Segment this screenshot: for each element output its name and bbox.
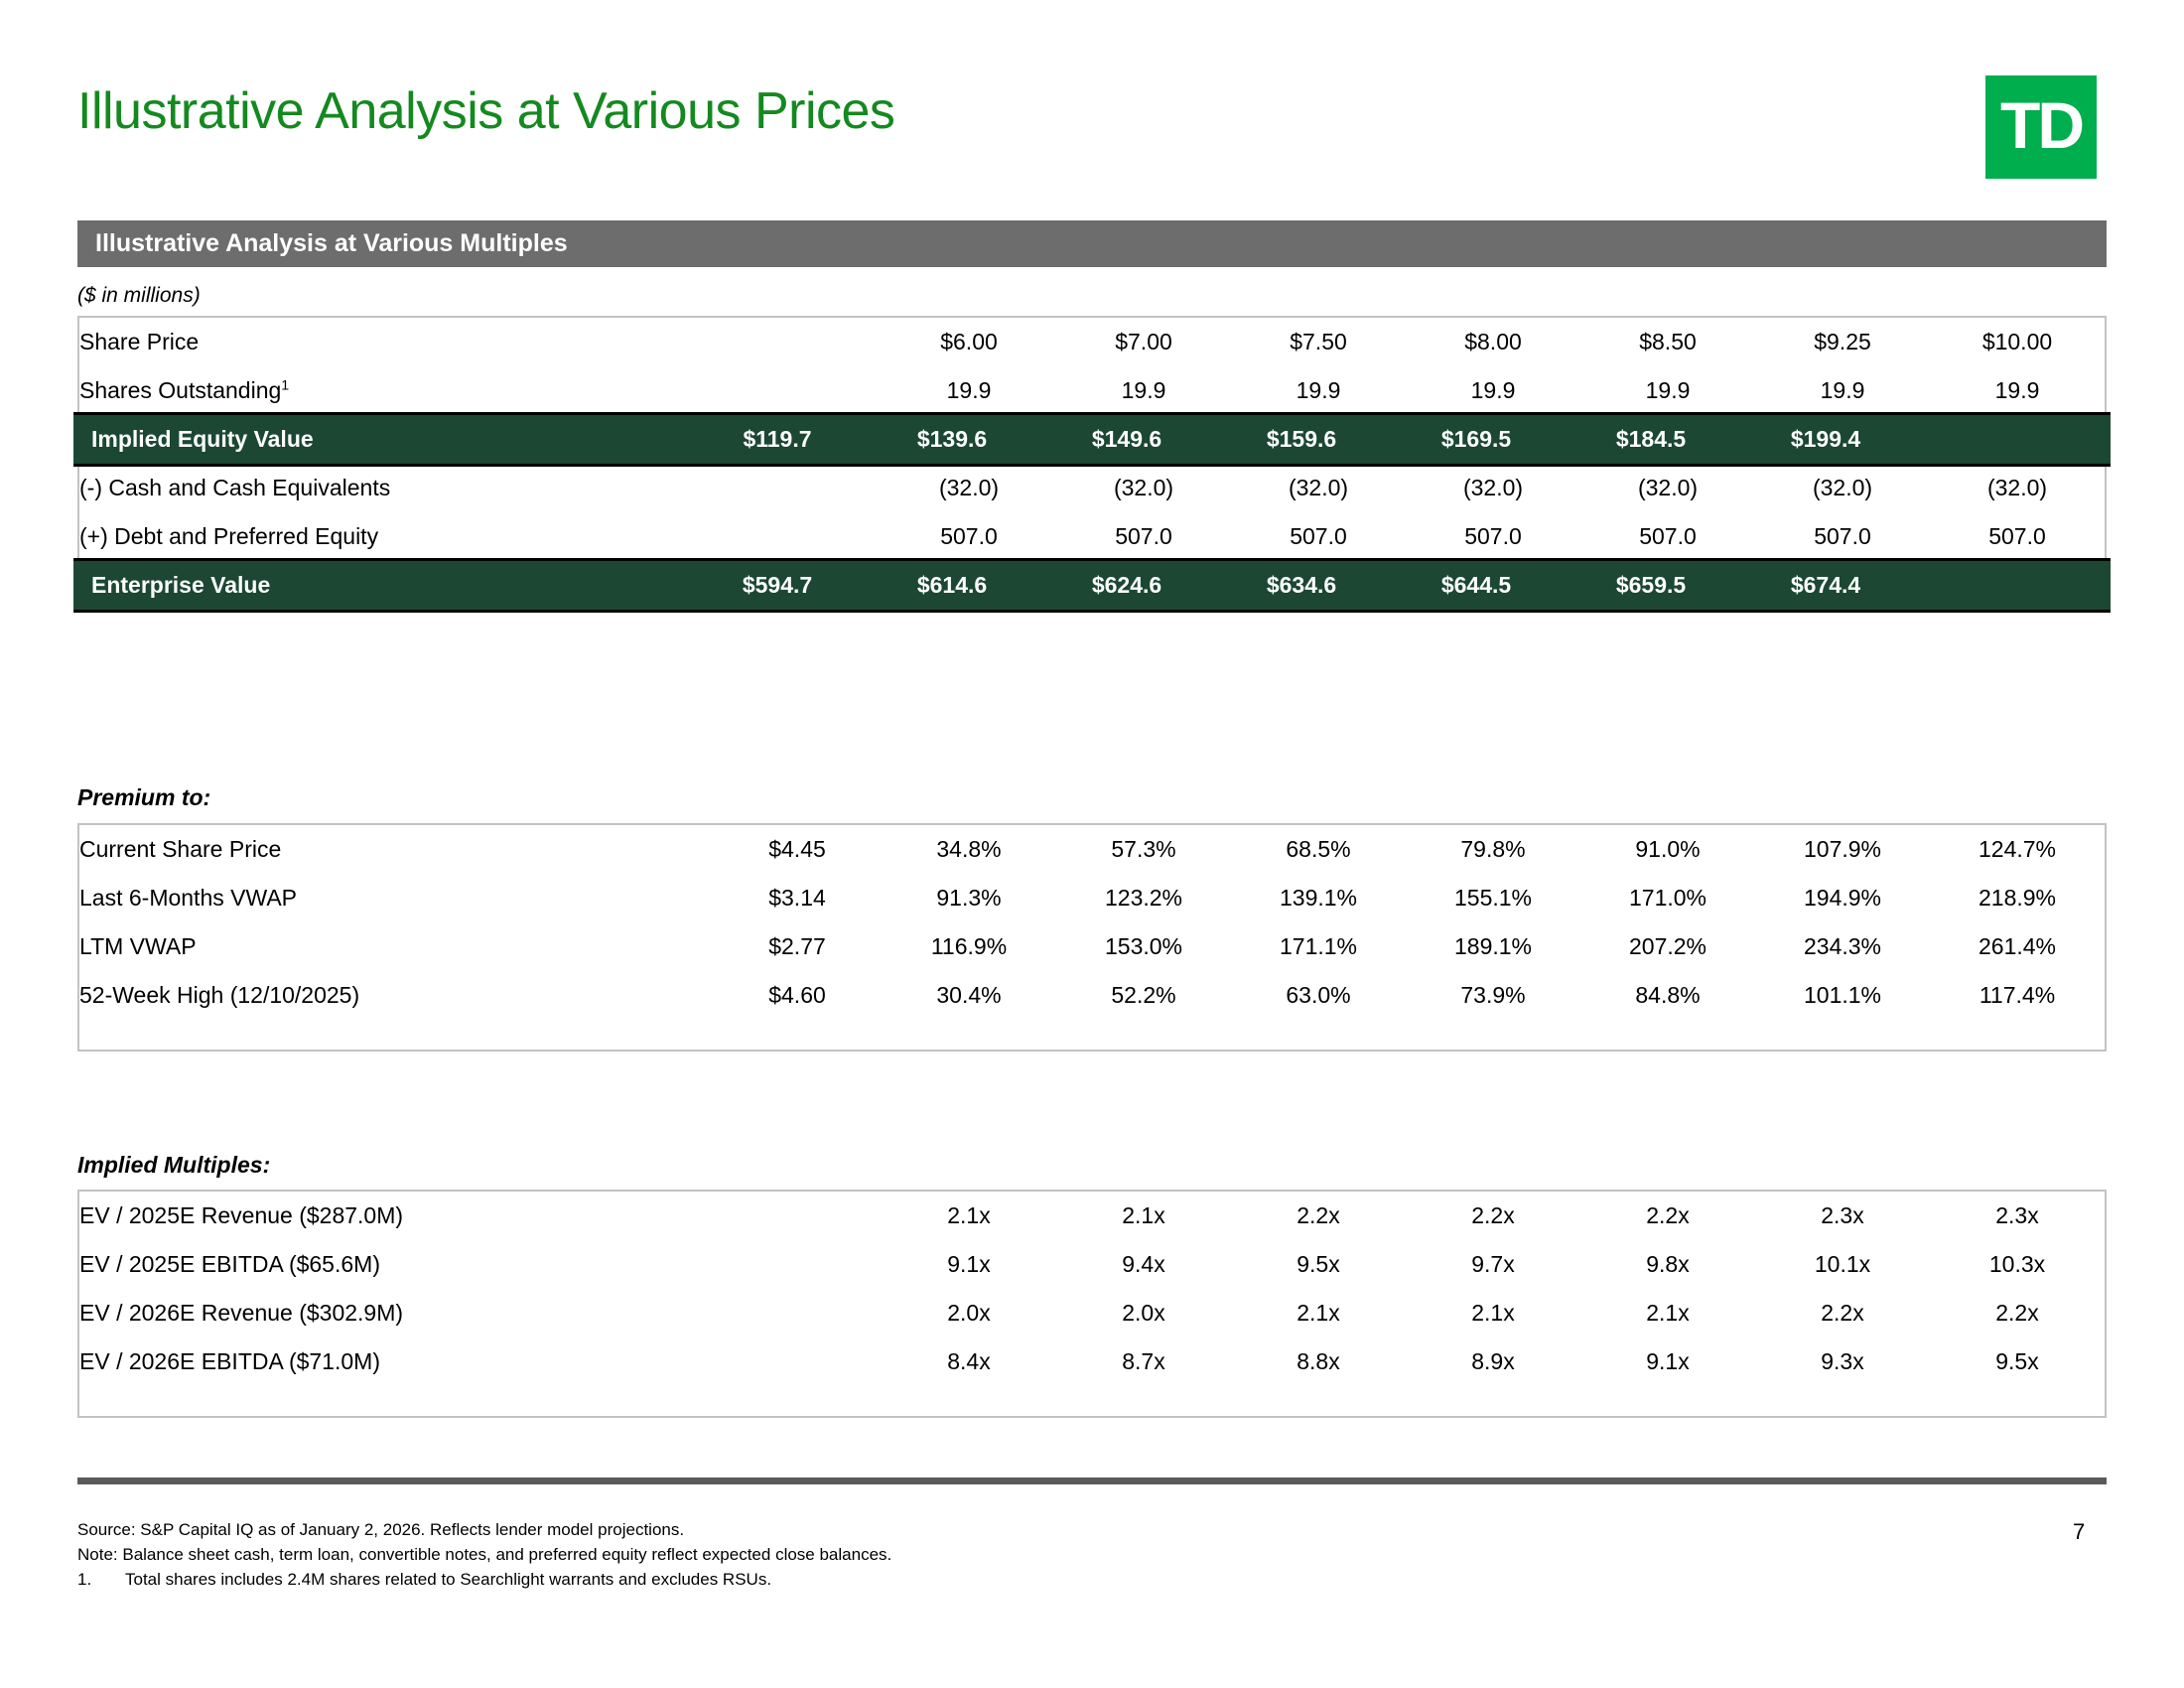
- table-cell: 63.0%: [1231, 971, 1406, 1020]
- table-cell: 507.0: [1406, 512, 1580, 561]
- table-cell: 10.1x: [1755, 1240, 1930, 1289]
- highlight-row-cell: $139.6: [917, 426, 987, 453]
- table-cell: 2.3x: [1755, 1192, 1930, 1240]
- footnotes: Source: S&P Capital IQ as of January 2, …: [77, 1517, 891, 1592]
- table-cell: 19.9: [1930, 366, 2105, 415]
- highlight-row-cell: $169.5: [1441, 426, 1511, 453]
- table-cell: 8.9x: [1406, 1337, 1580, 1386]
- table-cell: 57.3%: [1056, 825, 1231, 874]
- table-cell: 124.7%: [1930, 825, 2105, 874]
- table-cell: 19.9: [1580, 366, 1755, 415]
- table-cell: 261.4%: [1930, 922, 2105, 971]
- table-cell: 171.0%: [1580, 874, 1755, 922]
- table-cell: 2.2x: [1580, 1192, 1755, 1240]
- table-cell: 207.2%: [1580, 922, 1755, 971]
- footnote-item-number: 1.: [77, 1567, 125, 1592]
- table-cell: $10.00: [1930, 318, 2105, 366]
- table-row: Current Share Price$4.4534.8%57.3%68.5%7…: [79, 825, 2105, 874]
- table-cell: 91.0%: [1580, 825, 1755, 874]
- table-row: LTM VWAP$2.77116.9%153.0%171.1%189.1%207…: [79, 922, 2105, 971]
- row-label: Shares Outstanding1: [79, 366, 882, 415]
- table-cell: 2.1x: [1056, 1192, 1231, 1240]
- table-cell: (32.0): [1406, 464, 1580, 512]
- table-cell: 507.0: [1580, 512, 1755, 561]
- table-cell: 19.9: [1406, 366, 1580, 415]
- table-row: (-) Cash and Cash Equivalents(32.0)(32.0…: [79, 464, 2105, 512]
- table-cell: 2.1x: [1406, 1289, 1580, 1337]
- table-cell: (32.0): [882, 464, 1056, 512]
- table-cell: 2.3x: [1930, 1192, 2105, 1240]
- reference-value: $4.60: [713, 971, 882, 1020]
- table-cell: 107.9%: [1755, 825, 1930, 874]
- highlight-row-cell: $119.7: [743, 426, 811, 453]
- implied-multiples-heading: Implied Multiples:: [77, 1152, 270, 1179]
- table-cell: 155.1%: [1406, 874, 1580, 922]
- table-row: Last 6-Months VWAP$3.1491.3%123.2%139.1%…: [79, 874, 2105, 922]
- highlight-row-label: Implied Equity Value: [91, 426, 314, 453]
- slide-root: Illustrative Analysis at Various Prices …: [0, 0, 2184, 1688]
- row-label: LTM VWAP: [79, 922, 713, 971]
- highlight-row-cell: $184.5: [1616, 426, 1686, 453]
- footnote-source: Source: S&P Capital IQ as of January 2, …: [77, 1517, 891, 1542]
- table-cell: 234.3%: [1755, 922, 1930, 971]
- highlight-row: Enterprise Value$594.7$614.6$624.6$634.6…: [73, 558, 2111, 613]
- row-label: Share Price: [79, 318, 882, 366]
- section-header-bar: Illustrative Analysis at Various Multipl…: [77, 220, 2107, 267]
- table-premium: Current Share Price$4.4534.8%57.3%68.5%7…: [77, 823, 2107, 1052]
- reference-value: $3.14: [713, 874, 882, 922]
- table-cell: 507.0: [1231, 512, 1406, 561]
- table-cell: 2.0x: [1056, 1289, 1231, 1337]
- page-number: 7: [2073, 1519, 2085, 1545]
- footnote-item-text: Total shares includes 2.4M shares relate…: [125, 1570, 771, 1589]
- highlight-row-cell: $659.5: [1616, 572, 1686, 599]
- highlight-row-cell: $199.4: [1791, 426, 1860, 453]
- reference-value: $2.77: [713, 922, 882, 971]
- table-cell: 116.9%: [882, 922, 1056, 971]
- table-cell: 30.4%: [882, 971, 1056, 1020]
- table-row: 52-Week High (12/10/2025)$4.6030.4%52.2%…: [79, 971, 2105, 1020]
- table-cell: $8.50: [1580, 318, 1755, 366]
- highlight-row-cell: $624.6: [1092, 572, 1161, 599]
- highlight-row-cell: $674.4: [1791, 572, 1860, 599]
- table-cell: 9.1x: [1580, 1337, 1755, 1386]
- table-cell: 73.9%: [1406, 971, 1580, 1020]
- page-title: Illustrative Analysis at Various Prices: [77, 81, 894, 141]
- units-label: ($ in millions): [77, 284, 201, 308]
- table-cell: (32.0): [1231, 464, 1406, 512]
- highlight-row-cell: $594.7: [743, 572, 812, 599]
- table-cell: 9.8x: [1580, 1240, 1755, 1289]
- table-cell: 218.9%: [1930, 874, 2105, 922]
- highlight-row-label: Enterprise Value: [91, 572, 270, 599]
- table-cell: 507.0: [1930, 512, 2105, 561]
- table-row: Share Price$6.00$7.00$7.50$8.00$8.50$9.2…: [79, 318, 2105, 366]
- footnote-marker: 1: [281, 377, 289, 393]
- table-cell: 9.1x: [882, 1240, 1056, 1289]
- table-cell: 2.2x: [1231, 1192, 1406, 1240]
- table-cell: (32.0): [1056, 464, 1231, 512]
- table-cell: 507.0: [882, 512, 1056, 561]
- td-logo-text: TD: [2000, 92, 2082, 158]
- table-cell: 2.1x: [1580, 1289, 1755, 1337]
- table-cell: $6.00: [882, 318, 1056, 366]
- table-cell: (32.0): [1930, 464, 2105, 512]
- table-cell: $7.50: [1231, 318, 1406, 366]
- table-cell: 2.0x: [882, 1289, 1056, 1337]
- table-cell: (32.0): [1580, 464, 1755, 512]
- table-cell: 19.9: [1056, 366, 1231, 415]
- table-cell: 123.2%: [1056, 874, 1231, 922]
- table-cell: 9.4x: [1056, 1240, 1231, 1289]
- table-cell: 101.1%: [1755, 971, 1930, 1020]
- table-cell: 507.0: [1056, 512, 1231, 561]
- row-label: EV / 2025E EBITDA ($65.6M): [79, 1240, 882, 1289]
- table-cell: 194.9%: [1755, 874, 1930, 922]
- row-label: Last 6-Months VWAP: [79, 874, 713, 922]
- table-cell: 9.5x: [1231, 1240, 1406, 1289]
- table-cell: 2.2x: [1755, 1289, 1930, 1337]
- table-cell: 52.2%: [1056, 971, 1231, 1020]
- highlight-row-cell: $634.6: [1267, 572, 1336, 599]
- table-row: EV / 2026E EBITDA ($71.0M)8.4x8.7x8.8x8.…: [79, 1337, 2105, 1386]
- table-cell: 8.7x: [1056, 1337, 1231, 1386]
- table-cell: 19.9: [1755, 366, 1930, 415]
- table-row: Shares Outstanding119.919.919.919.919.91…: [79, 366, 2105, 415]
- table-cell: (32.0): [1755, 464, 1930, 512]
- highlight-row-cell: $159.6: [1267, 426, 1336, 453]
- table-row: EV / 2025E Revenue ($287.0M)2.1x2.1x2.2x…: [79, 1192, 2105, 1240]
- row-label: Current Share Price: [79, 825, 713, 874]
- table-cell: 91.3%: [882, 874, 1056, 922]
- table-cell: $7.00: [1056, 318, 1231, 366]
- table-cell: 117.4%: [1930, 971, 2105, 1020]
- footer-divider: [77, 1477, 2107, 1484]
- table-cell: 189.1%: [1406, 922, 1580, 971]
- row-label: (+) Debt and Preferred Equity: [79, 512, 882, 561]
- row-label: 52-Week High (12/10/2025): [79, 971, 713, 1020]
- row-label: EV / 2025E Revenue ($287.0M): [79, 1192, 882, 1240]
- footnote-item: 1.Total shares includes 2.4M shares rela…: [77, 1567, 891, 1592]
- highlight-row: Implied Equity Value$119.7$139.6$149.6$1…: [73, 412, 2111, 467]
- table-cell: 68.5%: [1231, 825, 1406, 874]
- table-row: EV / 2026E Revenue ($302.9M)2.0x2.0x2.1x…: [79, 1289, 2105, 1337]
- table-cell: 8.4x: [882, 1337, 1056, 1386]
- td-logo: TD: [1985, 75, 2097, 179]
- table-cell: 507.0: [1755, 512, 1930, 561]
- highlight-row-cell: $614.6: [917, 572, 987, 599]
- row-label: EV / 2026E EBITDA ($71.0M): [79, 1337, 882, 1386]
- table-cell: 153.0%: [1056, 922, 1231, 971]
- table-cell: 139.1%: [1231, 874, 1406, 922]
- highlight-row-cell: $149.6: [1092, 426, 1161, 453]
- table-cell: 9.7x: [1406, 1240, 1580, 1289]
- table-cell: 19.9: [882, 366, 1056, 415]
- premium-heading: Premium to:: [77, 784, 210, 811]
- footnote-note: Note: Balance sheet cash, term loan, con…: [77, 1542, 891, 1567]
- table-cell: 84.8%: [1580, 971, 1755, 1020]
- table-row: EV / 2025E EBITDA ($65.6M)9.1x9.4x9.5x9.…: [79, 1240, 2105, 1289]
- table-cell: 79.8%: [1406, 825, 1580, 874]
- table-cell: 9.5x: [1930, 1337, 2105, 1386]
- table-cell: 2.2x: [1406, 1192, 1580, 1240]
- row-label: EV / 2026E Revenue ($302.9M): [79, 1289, 882, 1337]
- highlight-row-cell: $644.5: [1441, 572, 1511, 599]
- row-label: (-) Cash and Cash Equivalents: [79, 464, 882, 512]
- section-header-label: Illustrative Analysis at Various Multipl…: [77, 229, 568, 258]
- table-cell: 19.9: [1231, 366, 1406, 415]
- table-cell: 34.8%: [882, 825, 1056, 874]
- table-cell: 8.8x: [1231, 1337, 1406, 1386]
- reference-value: $4.45: [713, 825, 882, 874]
- table-cell: $8.00: [1406, 318, 1580, 366]
- table-row: (+) Debt and Preferred Equity507.0507.05…: [79, 512, 2105, 561]
- table-cell: 9.3x: [1755, 1337, 1930, 1386]
- table-cell: $9.25: [1755, 318, 1930, 366]
- table-implied-multiples: EV / 2025E Revenue ($287.0M)2.1x2.1x2.2x…: [77, 1190, 2107, 1418]
- table-cell: 171.1%: [1231, 922, 1406, 971]
- table-cell: 2.2x: [1930, 1289, 2105, 1337]
- table-cell: 10.3x: [1930, 1240, 2105, 1289]
- table-cell: 2.1x: [882, 1192, 1056, 1240]
- table-cell: 2.1x: [1231, 1289, 1406, 1337]
